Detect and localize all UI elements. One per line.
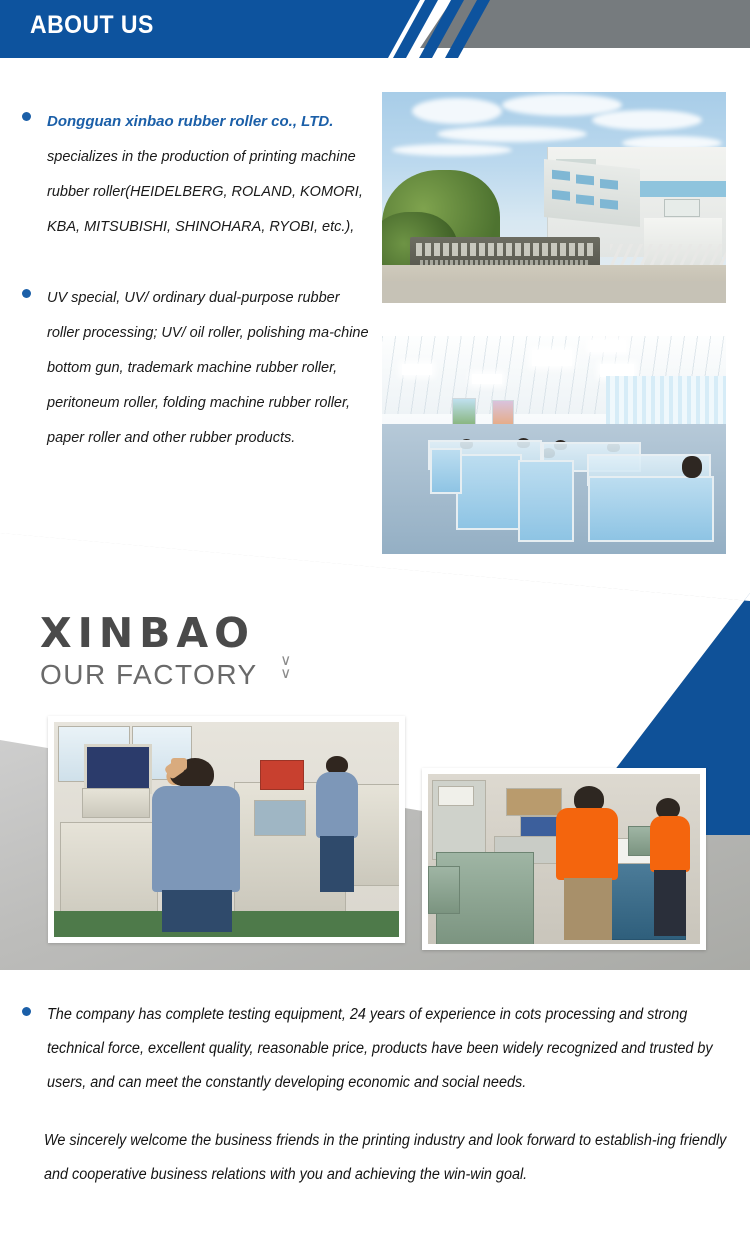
brand-name: XINBAO [40, 613, 291, 654]
cloud [412, 98, 502, 124]
ceiling-light [590, 340, 626, 352]
cabinet-label [438, 786, 474, 806]
page-title: ABOUT US [30, 11, 154, 40]
window [552, 170, 570, 181]
worker-hand [171, 758, 187, 770]
factory-wing [544, 159, 640, 227]
window [600, 179, 618, 190]
closing-bullet-text: The company has complete testing equipme… [47, 998, 725, 1100]
worker-torso [316, 772, 358, 838]
window [600, 199, 618, 210]
cloud [437, 126, 587, 142]
page-header-banner: ABOUT US [0, 0, 750, 58]
closing-paragraph: We sincerely welcome the business friend… [44, 1124, 741, 1192]
worker-torso [556, 808, 618, 880]
cubicle-panel [430, 448, 462, 494]
brand-tagline: OUR FACTORY [40, 659, 258, 691]
worker-legs [654, 870, 686, 936]
ceiling-light [402, 364, 432, 375]
chevron-down-icon: ∨∨ [280, 654, 291, 680]
bullet-dot-icon [22, 1007, 31, 1016]
bullet-dot-icon [22, 112, 31, 121]
grinding-workshop-photo [422, 768, 706, 950]
worker-legs [564, 878, 612, 940]
ceiling-light [472, 374, 502, 384]
intro-bullet-list: Dongguan xinbao rubber roller co., LTD. … [22, 104, 372, 482]
factory-building-photo [382, 92, 726, 303]
worker-legs [162, 890, 232, 932]
bullet-dot-icon [22, 289, 31, 298]
worker-torso [650, 816, 690, 872]
window [664, 199, 700, 217]
closing-paragraph-block: We sincerely welcome the business friend… [44, 1124, 744, 1192]
list-item: UV special, UV/ ordinary dual-purpose ru… [22, 281, 372, 456]
intro-paragraph-1: Dongguan xinbao rubber roller co., LTD. … [47, 104, 372, 245]
window [552, 190, 570, 201]
worker-torso [152, 786, 240, 892]
company-name: Dongguan xinbao rubber roller co., LTD. [47, 113, 333, 130]
closing-bullet: The company has complete testing equipme… [22, 998, 728, 1100]
cloud [392, 144, 512, 156]
window [576, 174, 594, 185]
brand-logo-block: XINBAO OUR FACTORY ∨∨ [40, 613, 291, 691]
ceiling-light [532, 350, 572, 366]
cnc-lathe-workshop-photo [48, 716, 405, 943]
control-box [260, 760, 304, 790]
cloud [592, 110, 702, 130]
employee-head [682, 456, 702, 478]
stacked-boxes [506, 788, 562, 816]
cnc-keypad [82, 788, 150, 818]
window [576, 194, 594, 205]
cnc-control-screen [84, 744, 152, 794]
list-item: Dongguan xinbao rubber roller co., LTD. … [22, 104, 372, 245]
sign-chinese-text [416, 243, 594, 256]
worker-legs [320, 836, 354, 892]
road [382, 281, 726, 303]
lathe-window [254, 800, 306, 836]
intro-paragraph-2: UV special, UV/ ordinary dual-purpose ru… [47, 281, 372, 456]
green-machine [428, 866, 460, 914]
intro-body-1: specializes in the production of printin… [47, 149, 363, 235]
